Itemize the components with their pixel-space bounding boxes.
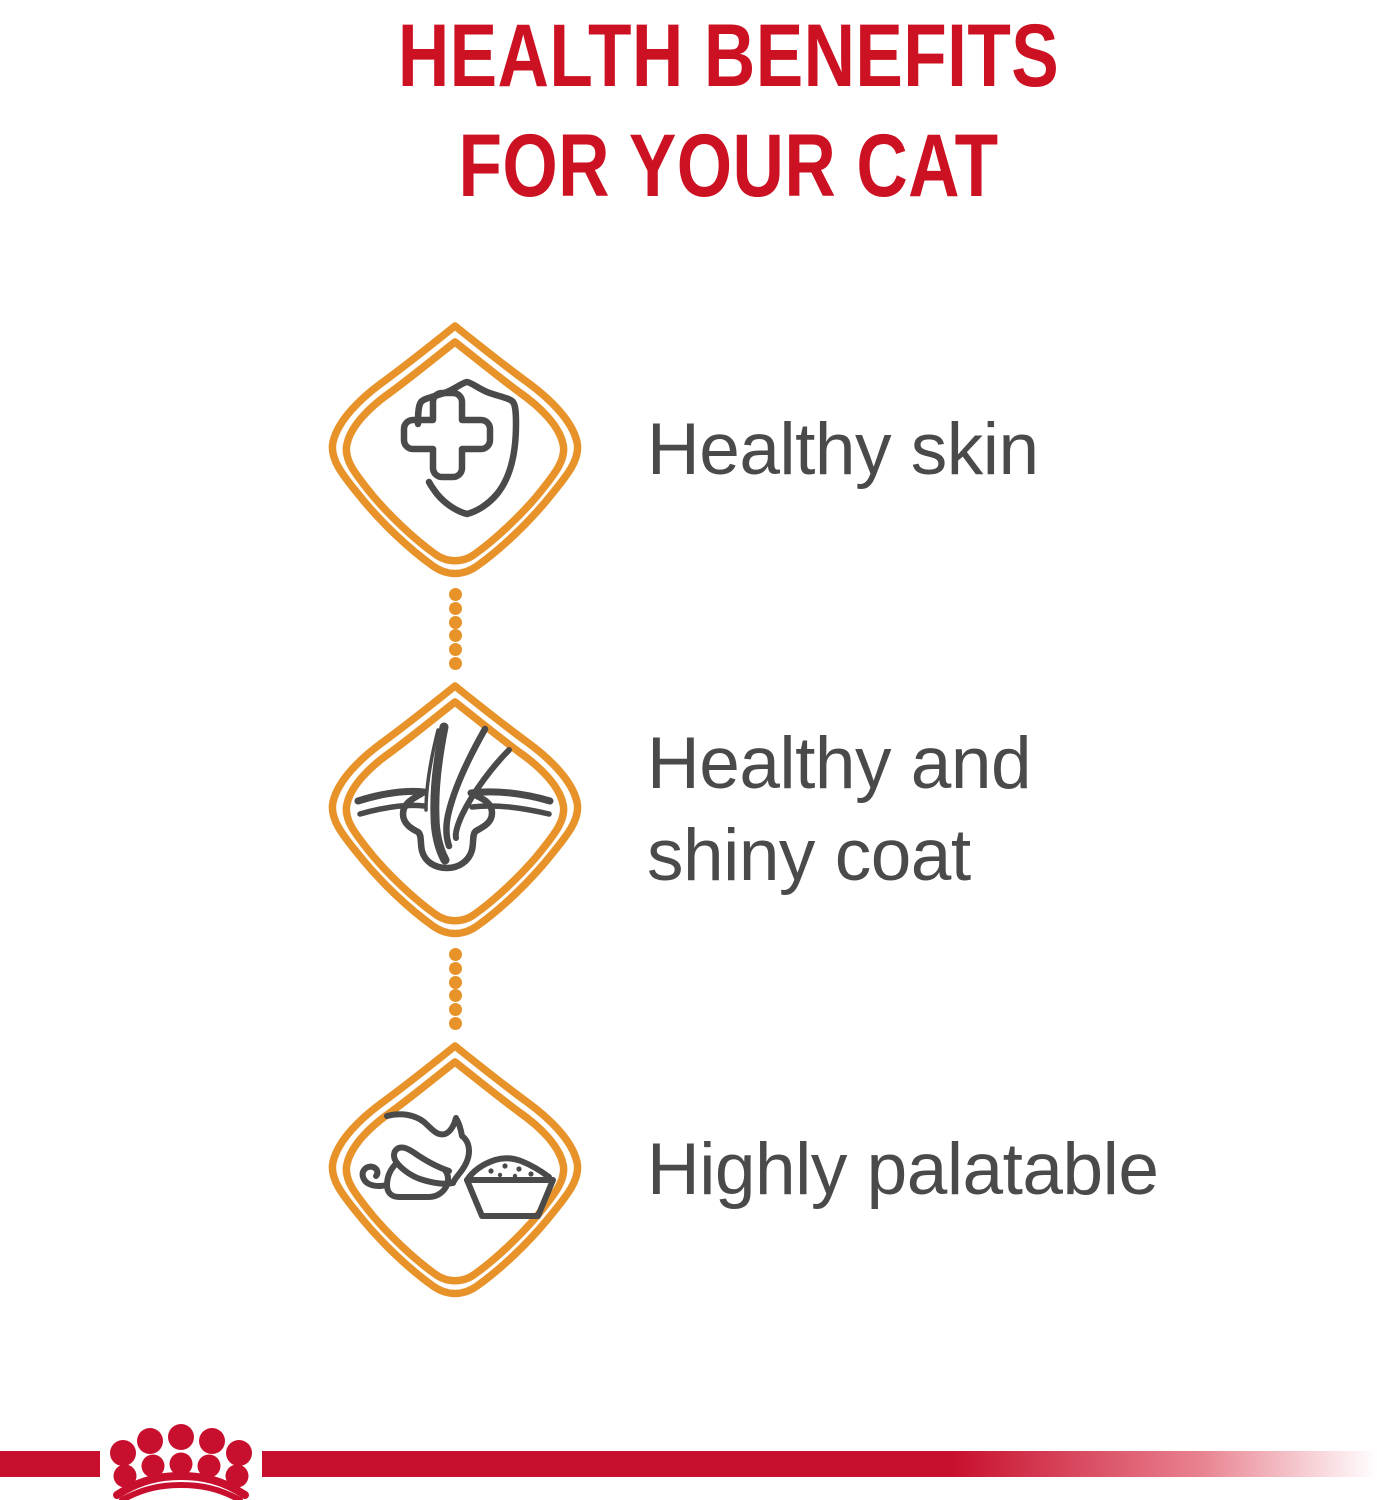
dotted-connector-1 xyxy=(448,588,462,670)
brand-red-bar-left xyxy=(0,1451,100,1477)
dotted-connector-2 xyxy=(448,948,462,1030)
connector-dot xyxy=(449,1017,462,1030)
benefit-label-healthy-skin: Healthy skin xyxy=(647,404,1377,496)
royal-canin-crown-logo xyxy=(100,1422,262,1500)
connector-dot xyxy=(449,1003,462,1016)
connector-dot xyxy=(449,629,462,642)
benefit-item-healthy-skin: Healthy skin xyxy=(0,320,1377,580)
page-title: HEALTH BENEFITS FOR YOUR CAT xyxy=(0,0,1377,220)
footer xyxy=(0,1448,1377,1500)
benefit-label-shiny-coat: Healthy and shiny coat xyxy=(647,718,1377,902)
benefit-item-highly-palatable: Highly palatable xyxy=(0,1040,1377,1300)
connector-dot xyxy=(449,962,462,975)
diamond-badge-healthy-skin xyxy=(325,320,585,580)
diamond-badge-shiny-coat xyxy=(325,680,585,940)
connector-dot xyxy=(449,976,462,989)
page-title-line-2: FOR YOUR CAT xyxy=(210,110,1248,220)
connector-dot xyxy=(449,616,462,629)
benefit-item-shiny-coat: Healthy and shiny coat xyxy=(0,680,1377,940)
page-title-line-1: HEALTH BENEFITS xyxy=(210,0,1248,110)
connector-dot xyxy=(449,948,462,961)
benefits-list: Healthy skin xyxy=(0,310,1377,1320)
connector-dot xyxy=(449,989,462,1002)
connector-dot xyxy=(449,588,462,601)
connector-dot xyxy=(449,643,462,656)
health-benefits-infographic: HEALTH BENEFITS FOR YOUR CAT xyxy=(0,0,1377,1500)
connector-dot xyxy=(449,602,462,615)
brand-red-bar-right xyxy=(262,1451,1377,1477)
benefit-label-highly-palatable: Highly palatable xyxy=(647,1124,1377,1216)
connector-dot xyxy=(449,657,462,670)
diamond-badge-highly-palatable xyxy=(325,1040,585,1300)
